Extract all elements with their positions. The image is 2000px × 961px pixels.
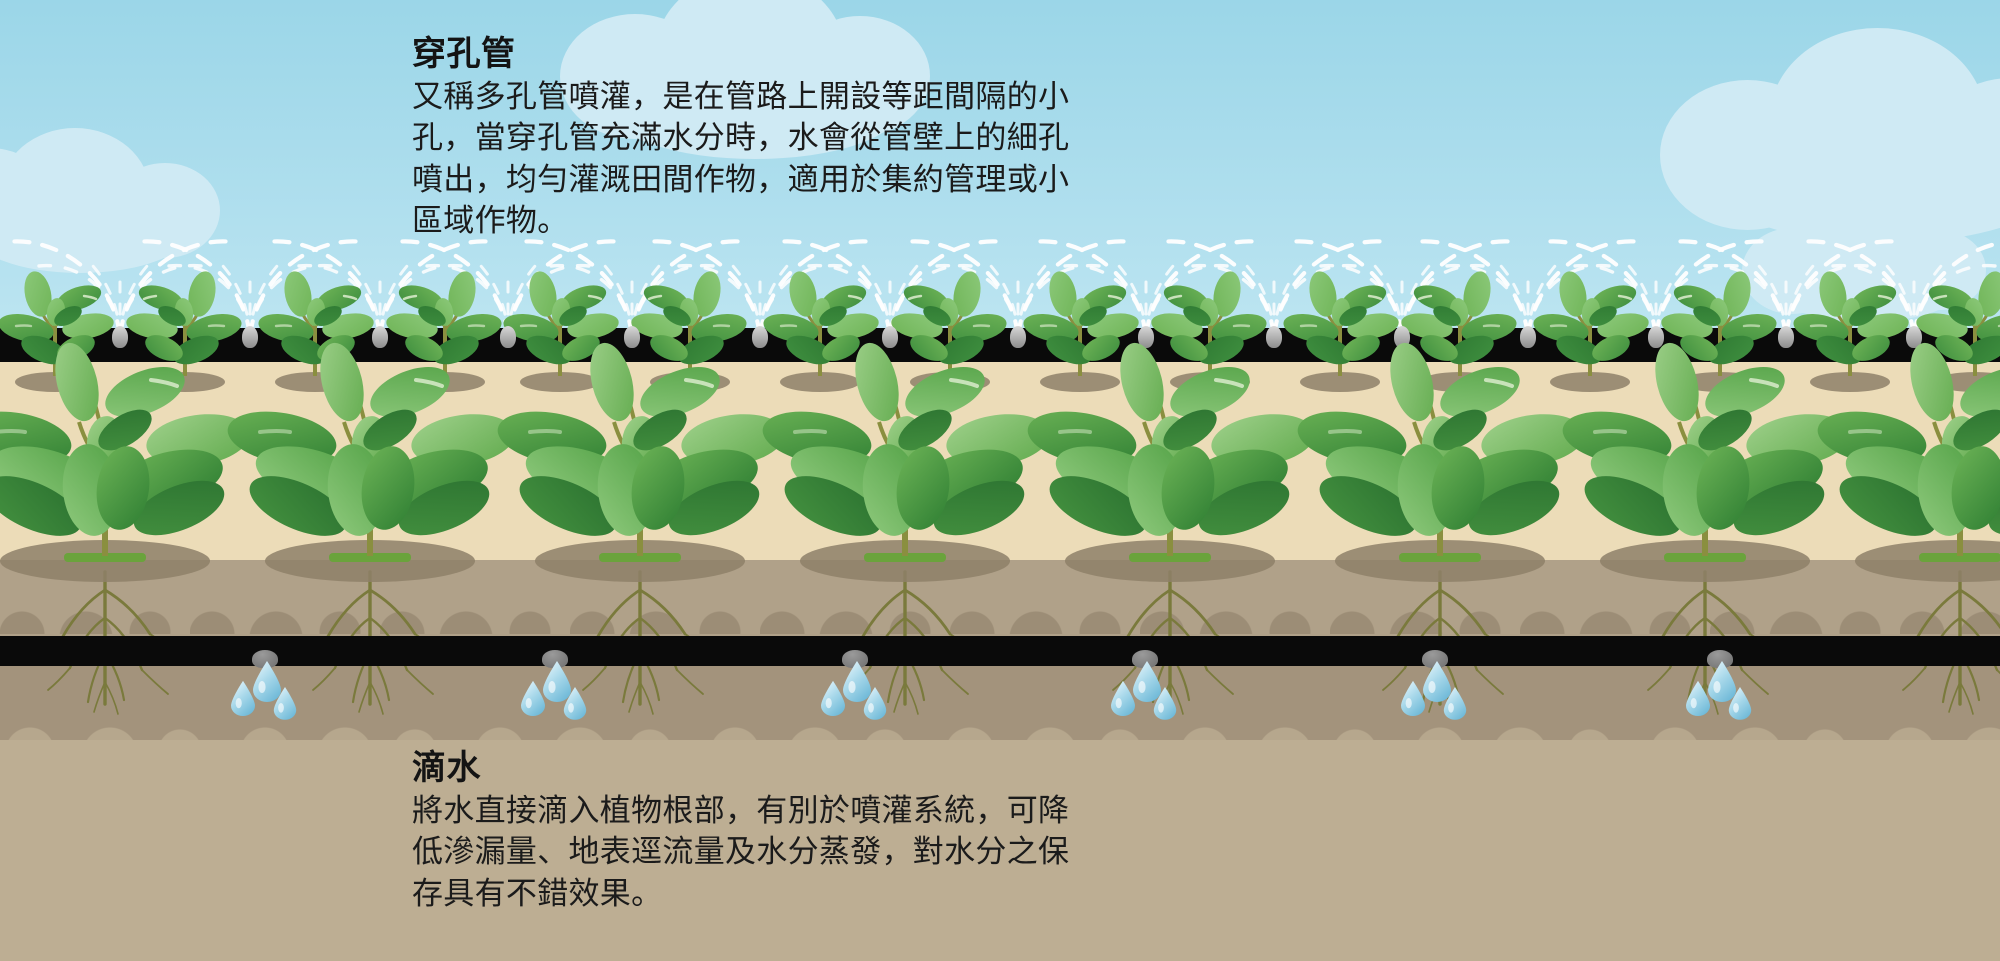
- sprinkler-text-block: 穿孔管 又稱多孔管噴灌，是在管路上開設等距間隔的小 孔，當穿孔管充滿水分時，水會…: [412, 34, 1272, 241]
- drip-pipe: [0, 636, 2000, 666]
- sprinkler-line-1: 又稱多孔管噴灌，是在管路上開設等距間隔的小: [412, 76, 1272, 117]
- drip-line-2: 低滲漏量、地表逕流量及水分蒸發，對水分之保: [412, 831, 1272, 872]
- drip-description: 將水直接滴入植物根部，有別於噴灌系統，可降 低滲漏量、地表逕流量及水分蒸發，對水…: [412, 790, 1272, 914]
- drip-text-block: 滴水 將水直接滴入植物根部，有別於噴灌系統，可降 低滲漏量、地表逕流量及水分蒸發…: [412, 748, 1272, 914]
- sprinkler-line-4: 區域作物。: [412, 200, 1272, 241]
- water-droplet: [230, 680, 256, 716]
- infographic-canvas: 穿孔管 又稱多孔管噴灌，是在管路上開設等距間隔的小 孔，當穿孔管充滿水分時，水會…: [0, 0, 2000, 961]
- water-droplet: [1728, 686, 1752, 720]
- drip-line-1: 將水直接滴入植物根部，有別於噴灌系統，可降: [412, 790, 1272, 831]
- water-droplet: [1153, 686, 1177, 720]
- water-droplet: [273, 686, 297, 720]
- water-droplet: [1685, 680, 1711, 716]
- crop-plant: [0, 330, 255, 560]
- water-droplet: [820, 680, 846, 716]
- water-droplet: [520, 680, 546, 716]
- crop-plant: [220, 330, 520, 560]
- water-droplet: [1443, 686, 1467, 720]
- sprinkler-line-2: 孔，當穿孔管充滿水分時，水會從管壁上的細孔: [412, 117, 1272, 158]
- crop-plant: [490, 330, 790, 560]
- sprinkler-description: 又稱多孔管噴灌，是在管路上開設等距間隔的小 孔，當穿孔管充滿水分時，水會從管壁上…: [412, 76, 1272, 241]
- water-droplet: [1110, 680, 1136, 716]
- crop-plant: [1020, 330, 1320, 560]
- water-droplet: [1400, 680, 1426, 716]
- sprinkler-line-3: 噴出，均勻灌溉田間作物，適用於集約管理或小: [412, 159, 1272, 200]
- water-droplet: [863, 686, 887, 720]
- sprinkler-heading: 穿孔管: [412, 34, 1272, 74]
- water-droplet: [563, 686, 587, 720]
- crop-plant: [1810, 330, 2000, 560]
- crop-plant: [755, 330, 1055, 560]
- drip-line-3: 存具有不錯效果。: [412, 873, 1272, 914]
- crop-plant: [1290, 330, 1590, 560]
- drip-heading: 滴水: [412, 748, 1272, 788]
